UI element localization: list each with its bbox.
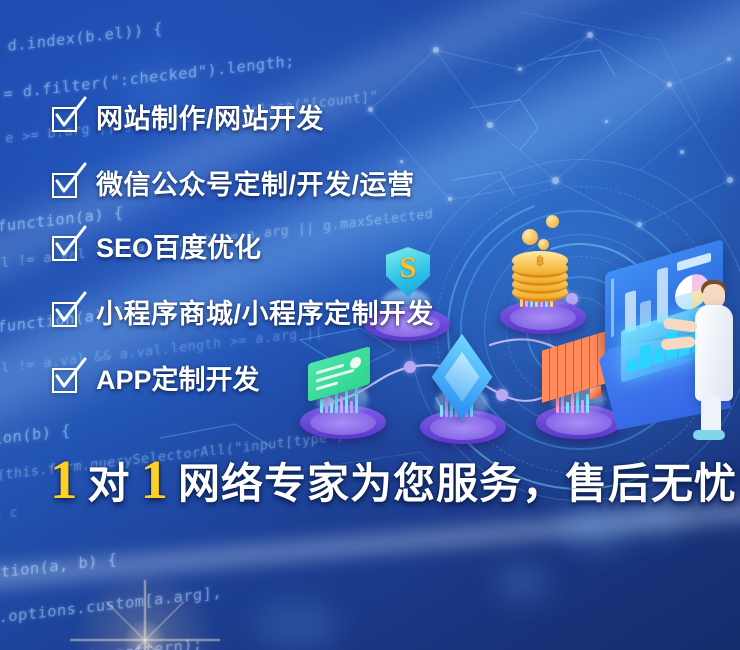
feature-item-wechat[interactable]: 微信公众号定制/开发/运营 (52, 164, 692, 207)
checkbox-checked-icon[interactable] (52, 234, 82, 264)
headline-number-first: 1 (50, 452, 78, 507)
promo-banner: .propWidthToolTip("input[type=checkbox]"… (0, 0, 740, 650)
feature-item-app[interactable]: APP定制开发 (52, 359, 692, 402)
feature-label: SEO百度优化 (96, 235, 261, 262)
headline-number-second: 1 (141, 452, 169, 507)
checkbox-checked-icon[interactable] (52, 300, 82, 330)
headline-middle-word: 对 (88, 463, 131, 505)
feature-label: 小程序商城/小程序定制开发 (96, 301, 434, 328)
checkbox-checked-icon[interactable] (52, 171, 82, 201)
feature-label: APP定制开发 (96, 367, 260, 394)
checkbox-checked-icon[interactable] (52, 366, 82, 396)
headline-tail-text: 网络专家为您服务，售后无忧！ (178, 463, 740, 505)
feature-item-seo[interactable]: SEO百度优化 (52, 227, 692, 270)
headline-slogan: 1 对 1 网络专家为您服务，售后无忧！ (50, 452, 740, 507)
service-feature-list: 网站制作/网站开发 微信公众号定制/开发/运营 SE (52, 98, 692, 425)
feature-item-website[interactable]: 网站制作/网站开发 (52, 98, 692, 141)
feature-label: 微信公众号定制/开发/运营 (96, 172, 415, 199)
banner-content: 网站制作/网站开发 微信公众号定制/开发/运营 SE (0, 0, 740, 650)
feature-item-miniprogram[interactable]: 小程序商城/小程序定制开发 (52, 293, 692, 336)
feature-label: 网站制作/网站开发 (96, 106, 324, 133)
checkbox-checked-icon[interactable] (52, 105, 82, 135)
